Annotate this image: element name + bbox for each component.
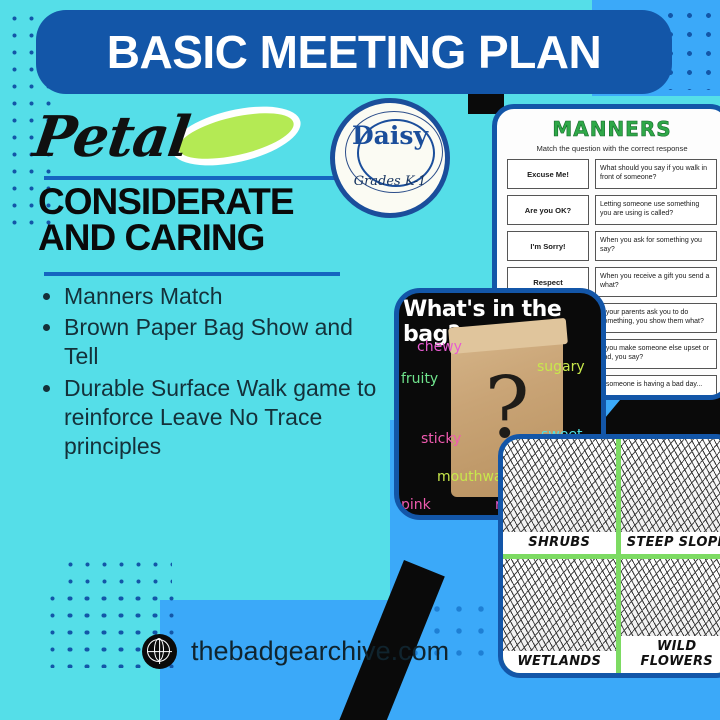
nature-card-label: WETLANDS [503, 651, 616, 673]
headline-line-2: AND CARING [38, 220, 378, 256]
nature-cards-grid: SHRUBS STEEP SLOPE WETLANDS WILD FLOWERS [498, 434, 720, 678]
nature-card: WILD FLOWERS [621, 559, 720, 674]
manners-title: MANNERS [507, 117, 717, 141]
daisy-badge-grades: Grades K-1 [354, 174, 427, 189]
header-banner: BASIC MEETING PLAN [36, 10, 672, 94]
divider-top [44, 176, 340, 180]
manners-question: If someone is having a bad day... [595, 375, 717, 400]
bag-tag: sugary [537, 359, 585, 375]
bag-tag: fruity [401, 371, 438, 387]
manners-question: What should you say if you walk in front… [595, 159, 717, 189]
nature-card: SHRUBS [503, 439, 616, 554]
nature-card-image [621, 439, 720, 532]
manners-question: When you ask for something you say? [595, 231, 717, 261]
poster-canvas: BASIC MEETING PLAN Petal CONSIDERATE AND… [0, 0, 720, 720]
list-item: Brown Paper Bag Show and Tell [64, 313, 388, 371]
divider-bottom [44, 272, 340, 276]
page-title: BASIC MEETING PLAN [107, 25, 601, 79]
manners-term: Excuse Me! [507, 159, 589, 189]
daisy-badge: Daisy Grades K-1 [330, 98, 450, 218]
manners-term: I'm Sorry! [507, 231, 589, 261]
bag-tag: sticky [421, 431, 461, 447]
manners-instruction: Match the question with the correct resp… [507, 144, 717, 153]
manners-question: When you receive a gift you send a what? [595, 267, 717, 297]
manners-term: Are you OK? [507, 195, 589, 225]
list-item: Manners Match [64, 282, 388, 311]
activity-list-items: Manners Match Brown Paper Bag Show and T… [36, 282, 388, 461]
bag-tag: chewy [417, 339, 462, 355]
manners-question: Letting someone use something you are us… [595, 195, 717, 225]
list-item: Durable Surface Walk game to reinforce L… [64, 374, 388, 462]
activity-list: Manners Match Brown Paper Bag Show and T… [36, 282, 388, 463]
manners-question: If you make someone else upset or sad, y… [595, 339, 717, 369]
nature-card-image [503, 439, 616, 532]
bag-tag: pink [401, 497, 431, 513]
headline-line-1: CONSIDERATE [38, 184, 378, 220]
nature-card: STEEP SLOPE [621, 439, 720, 554]
nature-card-label: SHRUBS [503, 532, 616, 554]
manners-questions-column: What should you say if you walk in front… [595, 159, 717, 400]
headline: CONSIDERATE AND CARING [38, 184, 378, 257]
nature-card-label: STEEP SLOPE [621, 532, 720, 554]
nature-card-label: WILD FLOWERS [621, 636, 720, 673]
petal-label: Petal [29, 104, 193, 170]
globe-icon [142, 634, 177, 669]
website-url: thebadgearchive.com [191, 636, 449, 667]
nature-card-image [503, 559, 616, 652]
daisy-badge-name: Daisy [352, 121, 428, 150]
nature-card-image [621, 559, 720, 637]
manners-question: If your parents ask you to do something,… [595, 303, 717, 333]
footer: thebadgearchive.com [142, 634, 449, 669]
petal-heading: Petal [34, 108, 364, 178]
nature-card: WETLANDS [503, 559, 616, 674]
